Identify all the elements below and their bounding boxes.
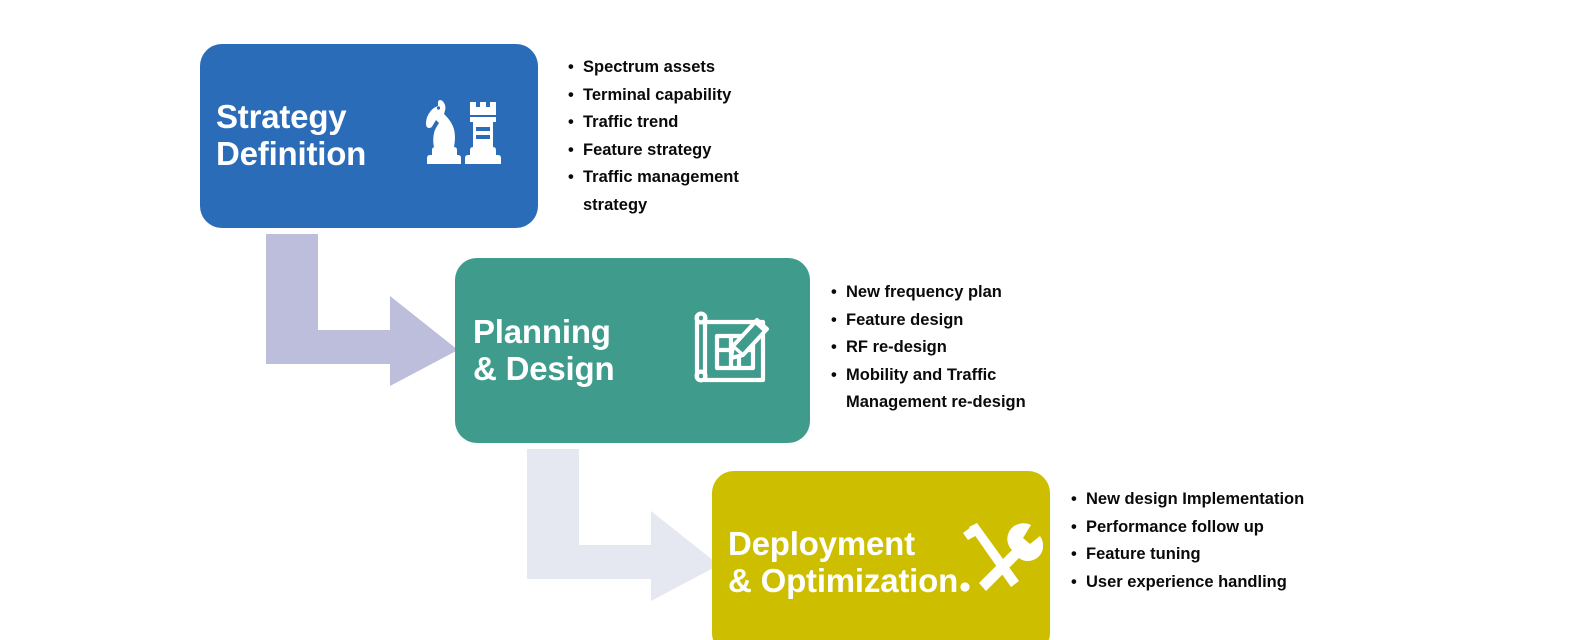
bullet-list-deployment: New design Implementation Performance fo… bbox=[1071, 486, 1321, 596]
bullet-item: Spectrum assets bbox=[568, 54, 798, 82]
stage-title-planning: Planning & Design bbox=[473, 314, 614, 388]
bullet-item: User experience handling bbox=[1071, 569, 1321, 597]
bullet-item: Traffic management strategy bbox=[568, 164, 798, 219]
bent-arrow-shape bbox=[527, 449, 719, 601]
bullet-item: New design Implementation bbox=[1071, 486, 1321, 514]
bullet-item: Mobility and Traffic Management re-desig… bbox=[831, 362, 1081, 417]
bullet-item: Feature design bbox=[831, 307, 1081, 335]
stage-title-deployment: Deployment & Optimization bbox=[728, 526, 958, 600]
bullet-item: Feature strategy bbox=[568, 137, 798, 165]
blueprint-pencil-icon bbox=[683, 306, 775, 392]
bullet-item: Feature tuning bbox=[1071, 541, 1321, 569]
connector-strategy-to-planning bbox=[266, 234, 458, 386]
chess-pieces-icon bbox=[415, 92, 505, 172]
bullet-list-planning: New frequency plan Feature design RF re-… bbox=[831, 279, 1081, 417]
stage-box-deployment[interactable]: Deployment & Optimization bbox=[712, 471, 1050, 640]
bent-arrow-shape bbox=[266, 234, 458, 386]
bullet-item: Traffic trend bbox=[568, 109, 798, 137]
bullet-item: New frequency plan bbox=[831, 279, 1081, 307]
stage-title-strategy: Strategy Definition bbox=[216, 99, 366, 173]
bullet-item: RF re-design bbox=[831, 334, 1081, 362]
bullet-list-strategy: Spectrum assets Terminal capability Traf… bbox=[568, 54, 798, 219]
bullet-item: Terminal capability bbox=[568, 82, 798, 110]
stage-box-strategy[interactable]: Strategy Definition bbox=[200, 44, 538, 228]
diagram-canvas: Strategy Definition Spectrum assets bbox=[0, 0, 1589, 640]
bullet-item: Performance follow up bbox=[1071, 514, 1321, 542]
connector-planning-to-deployment bbox=[527, 449, 719, 601]
stage-box-planning[interactable]: Planning & Design bbox=[455, 258, 810, 443]
wrench-screwdriver-icon bbox=[957, 519, 1043, 599]
